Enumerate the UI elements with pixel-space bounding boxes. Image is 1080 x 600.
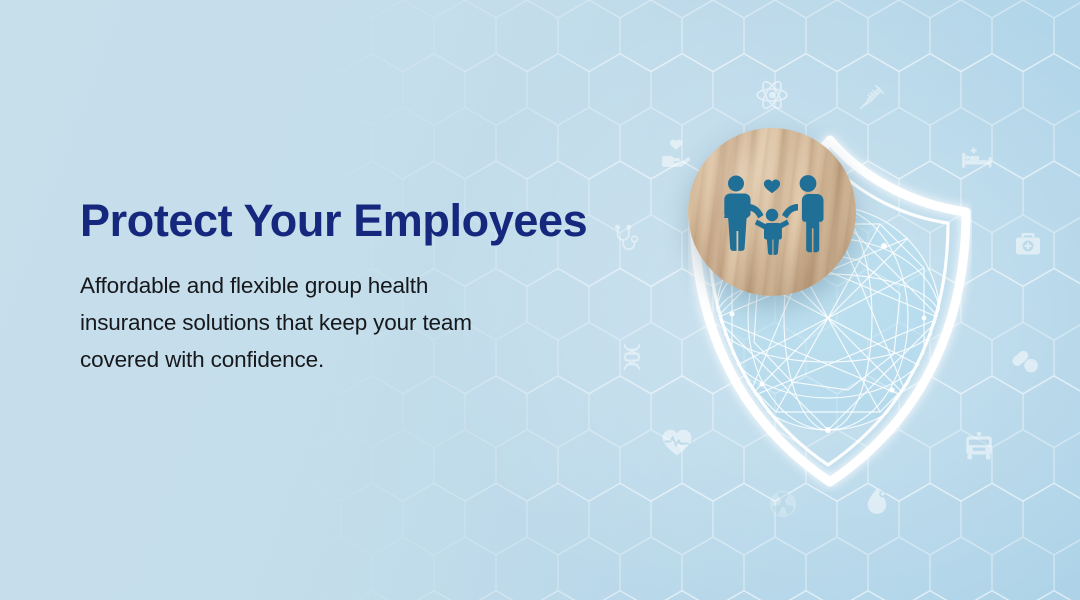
page-title: Protect Your Employees — [80, 196, 600, 246]
family-group-icon — [713, 171, 831, 259]
hero-banner: Protect Your Employees Affordable and fl… — [0, 0, 1080, 600]
hero-text-block: Protect Your Employees Affordable and fl… — [80, 196, 600, 379]
wooden-disc — [688, 128, 856, 296]
shield-artwork — [688, 128, 972, 492]
page-subtitle: Affordable and flexible group health ins… — [80, 268, 530, 379]
